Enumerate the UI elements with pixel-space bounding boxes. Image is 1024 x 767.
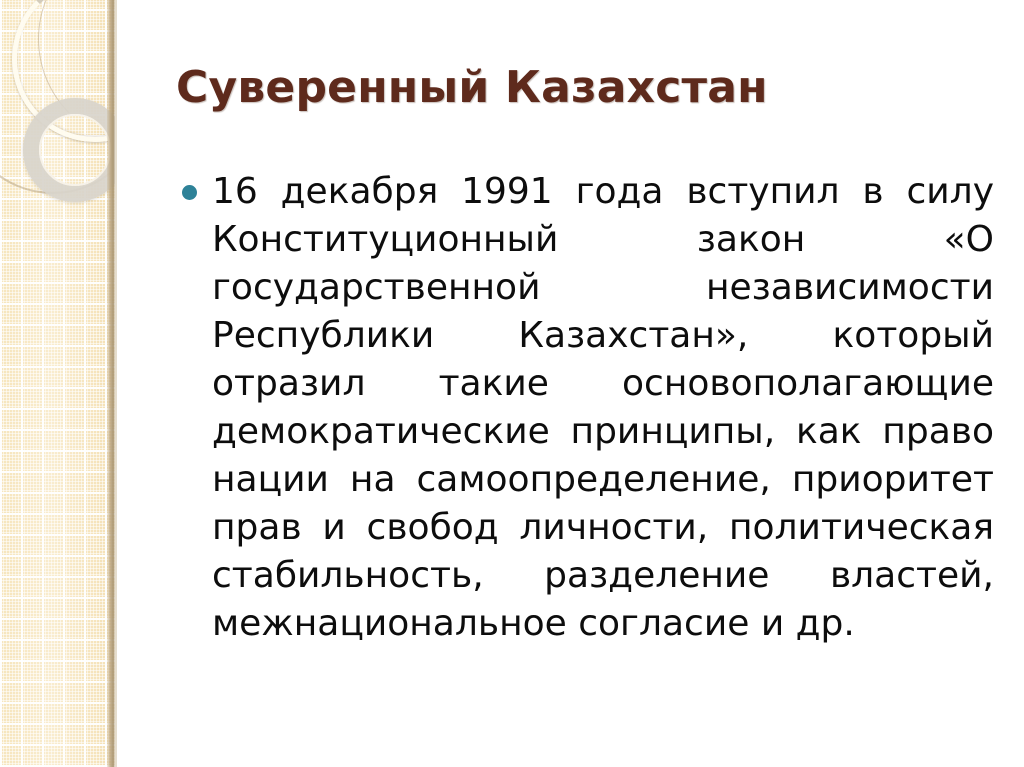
- bullet-text: 16 декабря 1991 года вступил в силу Конс…: [212, 168, 994, 648]
- bullet-dot-icon: [182, 185, 197, 200]
- sidebar-edge-stripe: [107, 0, 115, 767]
- decorative-sidebar-band: [0, 0, 115, 767]
- list-item: 16 декабря 1991 года вступил в силу Конс…: [176, 168, 994, 648]
- slide-title: Суверенный Казахстан: [176, 62, 996, 114]
- slide-body-content: 16 декабря 1991 года вступил в силу Конс…: [176, 168, 994, 648]
- small-ring-inner-highlight-icon: [39, 114, 111, 186]
- presentation-slide: Суверенный Казахстан 16 декабря 1991 год…: [0, 0, 1024, 767]
- sidebar-hairline-divider: [115, 0, 117, 767]
